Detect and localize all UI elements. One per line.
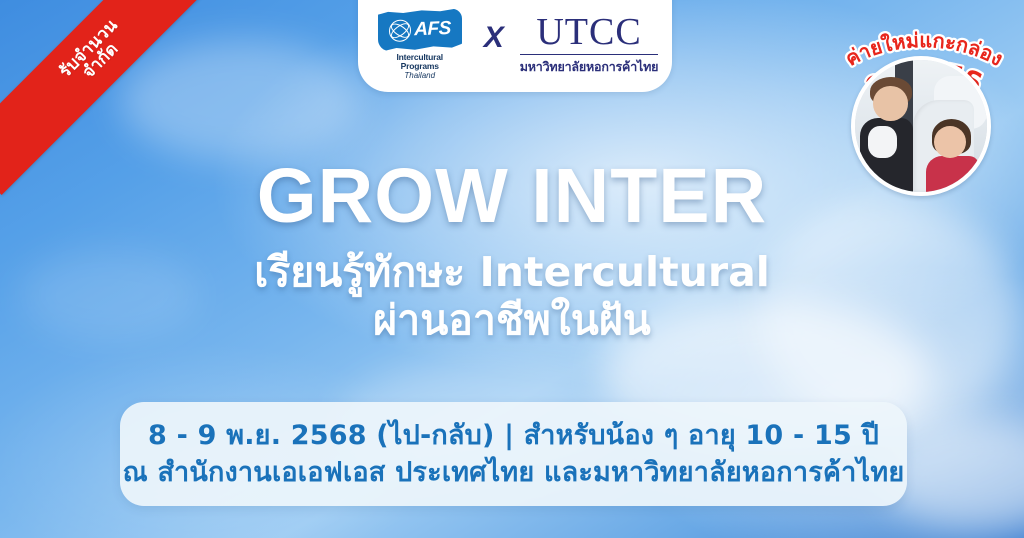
event-info-box: 8 - 9 พ.ย. 2568 (ไป-กลับ) | สำหรับน้อง ๆ… [120,402,907,506]
afs-flag-icon: AFS [378,8,462,51]
collab-separator: X [482,21,506,69]
event-venue-line: ณ สำนักงานเอเอฟเอส ประเทศไทย และมหาวิทยา… [123,457,905,488]
event-date-age-line: 8 - 9 พ.ย. 2568 (ไป-กลับ) | สำหรับน้อง ๆ… [148,420,879,451]
photo-passenger-head [934,126,966,158]
utcc-wordmark: UTCC [536,13,641,51]
logo-card: AFS Intercultural Programs Thailand X UT… [358,0,672,92]
afs-tagline: Intercultural Programs Thailand [396,53,443,81]
afs-logo: AFS Intercultural Programs Thailand [372,10,468,81]
subheadline-line-1: เรียนรู้ทักษะ Intercultural [0,248,1024,296]
utcc-divider [520,54,659,55]
photo-attendant-head [873,86,907,120]
photo-attendant-scarf [868,126,897,158]
headline: GROW INTER [0,158,1024,235]
promo-banner: รับจำนวน จำกัด AFS Intercultural Program… [0,0,1024,538]
afs-tagline-line-3: Thailand [396,72,443,81]
subheadline: เรียนรู้ทักษะ Intercultural ผ่านอาชีพในฝ… [0,248,1024,345]
utcc-logo: UTCC มหาวิทยาลัยหอการค้าไทย [520,13,659,77]
subheadline-line-2: ผ่านอาชีพในฝัน [0,296,1024,344]
globe-icon [389,19,411,42]
afs-wordmark: AFS [414,17,451,40]
utcc-subtitle: มหาวิทยาลัยหอการค้าไทย [520,57,659,77]
